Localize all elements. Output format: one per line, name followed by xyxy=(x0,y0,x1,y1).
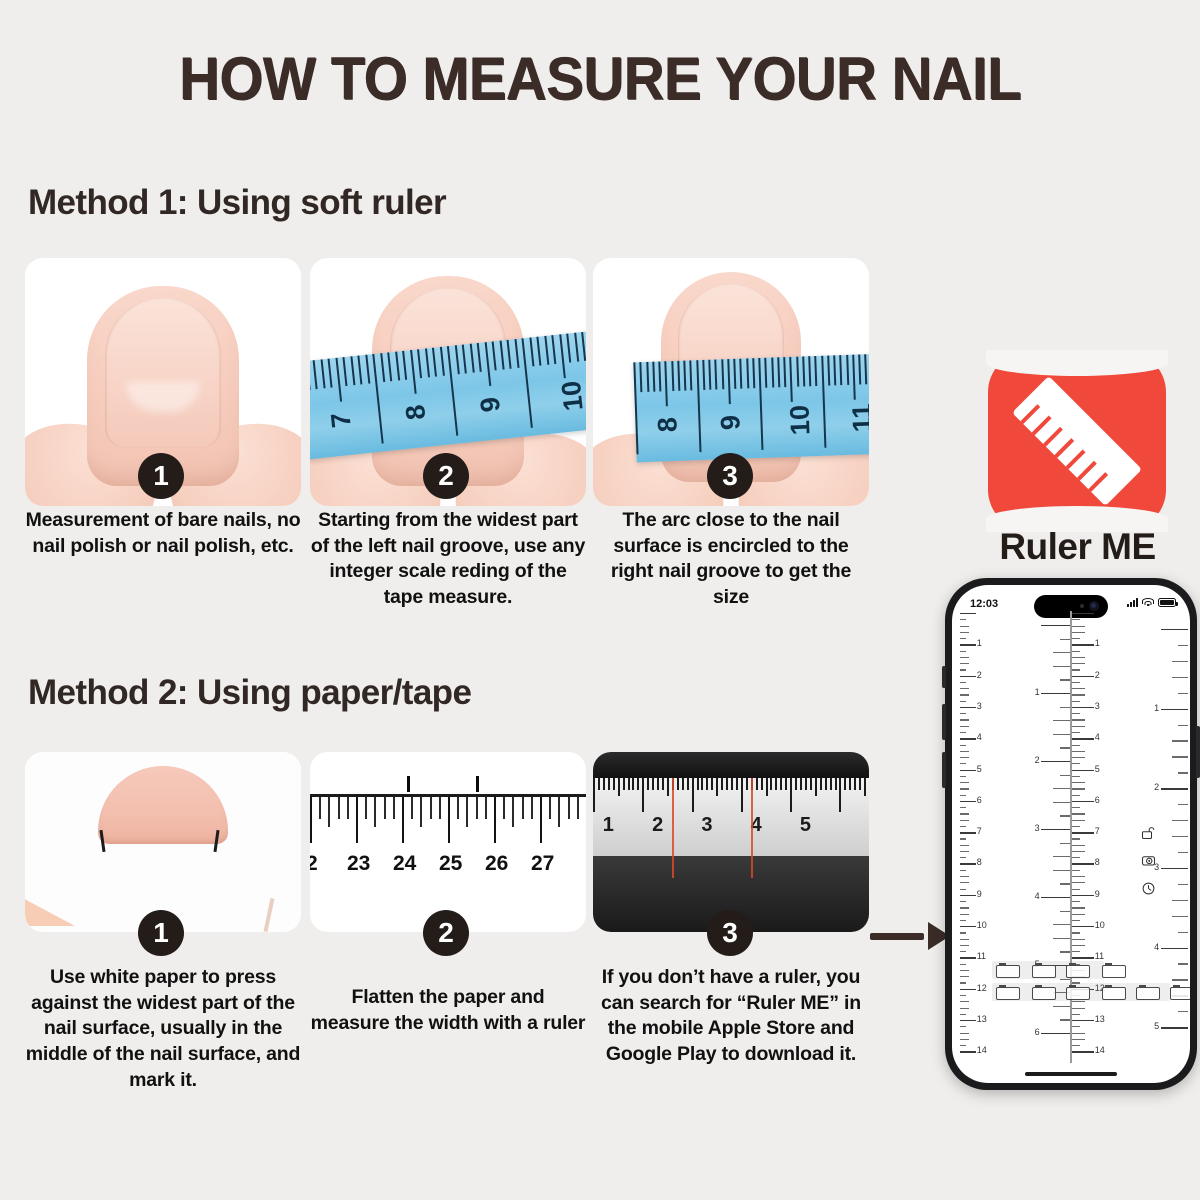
ruler-tick-label: 4 xyxy=(977,732,982,742)
tape-number: 9 xyxy=(715,414,747,430)
ruler-widget-buttons[interactable] xyxy=(966,963,1182,1007)
paper-ruler-number: 24 xyxy=(393,852,416,876)
step-badge-1: 1 xyxy=(138,453,184,499)
pen-mark xyxy=(476,776,479,792)
lock-icon[interactable] xyxy=(1141,825,1156,840)
method-1-step-2-caption: Starting from the widest part of the lef… xyxy=(310,508,586,611)
method-2-step-1-caption: Use white paper to press against the wid… xyxy=(25,965,301,1094)
ruler-tick-label: 9 xyxy=(1095,889,1100,899)
ruler-tick-label: 10 xyxy=(1095,920,1105,930)
widget-button[interactable] xyxy=(1066,965,1090,978)
clock-icon[interactable] xyxy=(1141,881,1156,896)
pen-mark xyxy=(407,776,410,792)
tape-number: 8 xyxy=(400,403,432,421)
ruler-tick-label: 9 xyxy=(977,889,982,899)
ruler-tick-label: 1 xyxy=(1154,703,1159,713)
status-bar-time: 12:03 xyxy=(970,598,998,610)
method-2-step-3-caption: If you don’t have a ruler, you can searc… xyxy=(593,965,869,1068)
paper-ruler-number: 25 xyxy=(439,852,462,876)
phone-volume-down-button[interactable] xyxy=(942,752,946,788)
paper-ruler-number: 26 xyxy=(485,852,508,876)
ruler-tick-label: 13 xyxy=(977,1014,987,1024)
metal-ruler-photo: 12345 xyxy=(593,752,869,932)
status-bar-icons xyxy=(1127,598,1176,607)
tape-number: 10 xyxy=(556,379,586,412)
ruler-tick-label: 14 xyxy=(1095,1045,1105,1055)
tape-number: 9 xyxy=(475,395,507,413)
ruler-tick-label: 13 xyxy=(1095,1014,1105,1024)
ruler-tick-label: 2 xyxy=(1154,782,1159,792)
widget-button[interactable] xyxy=(1102,965,1126,978)
metal-ruler-number: 3 xyxy=(701,814,712,837)
measurement-marker-line xyxy=(672,778,674,878)
phone-power-button[interactable] xyxy=(1196,726,1200,778)
widget-button[interactable] xyxy=(1066,987,1090,1000)
method-2-step-2-image-card: 22324252627 xyxy=(310,752,586,932)
method-2-step-1-image-card xyxy=(25,752,301,932)
paper-press-photo xyxy=(25,752,301,932)
method-2-step-3-image-card: 12345 xyxy=(593,752,869,932)
step-badge-4: 1 xyxy=(138,910,184,956)
ruler-tick-label: 11 xyxy=(1095,951,1104,961)
paper-ruler-number: 2 xyxy=(310,852,318,876)
ruler-tick-label: 8 xyxy=(1095,857,1100,867)
ruler-tick-label: 4 xyxy=(1154,942,1159,952)
ruler-tick-label: 6 xyxy=(1095,795,1100,805)
ruler-tick-label: 5 xyxy=(1154,1021,1159,1031)
paper-ruler-number: 27 xyxy=(531,852,554,876)
tape-number: 7 xyxy=(325,411,357,429)
ruler-tick-label: 5 xyxy=(977,764,982,774)
ruler-glyph-icon xyxy=(1012,376,1142,506)
step-badge-3: 3 xyxy=(707,453,753,499)
step-badge-6: 3 xyxy=(707,910,753,956)
method-2-heading: Method 2: Using paper/tape xyxy=(28,673,471,713)
ruler-tick-label: 2 xyxy=(1035,755,1040,765)
ruler-tick-label: 7 xyxy=(1095,826,1100,836)
step-badge-5: 2 xyxy=(423,910,469,956)
ruler-app-icon[interactable] xyxy=(988,352,1166,530)
page-title: HOW TO MEASURE YOUR NAIL xyxy=(36,44,1164,113)
phone-mockup: 12:03 1234567891011121314 123456 1234567… xyxy=(945,578,1197,1090)
ruler-tick-label: 4 xyxy=(1035,891,1040,901)
ruler-tick-label: 7 xyxy=(977,826,982,836)
ruler-tick-label: 1 xyxy=(1035,687,1040,697)
widget-row-1[interactable] xyxy=(966,963,1182,985)
wifi-icon xyxy=(1142,598,1154,607)
battery-icon xyxy=(1158,598,1176,607)
widget-button[interactable] xyxy=(1032,965,1056,978)
method-1-heading: Method 1: Using soft ruler xyxy=(28,183,446,223)
phone-screen[interactable]: 12:03 1234567891011121314 123456 1234567… xyxy=(952,585,1190,1083)
ruler-tick-label: 2 xyxy=(1095,670,1100,680)
arrow-to-app xyxy=(870,922,950,950)
cellular-signal-icon xyxy=(1127,598,1138,607)
ruler-tick-label: 14 xyxy=(977,1045,987,1055)
ruler-tick-label: 3 xyxy=(1035,823,1040,833)
method-1-step-1-caption: Measurement of bare nails, no nail polis… xyxy=(25,508,301,559)
widget-button[interactable] xyxy=(996,965,1020,978)
method-2-step-2-caption: Flatten the paper and measure the width … xyxy=(310,985,586,1036)
measurement-marker-line xyxy=(751,778,753,878)
app-name-label: Ruler ME xyxy=(940,526,1200,568)
camera-icon[interactable] xyxy=(1141,853,1156,868)
widget-button[interactable] xyxy=(996,987,1020,1000)
phone-mute-switch[interactable] xyxy=(942,666,946,688)
ruler-tick-label: 6 xyxy=(977,795,982,805)
ruler-tick-label: 6 xyxy=(1035,1027,1040,1037)
ruler-tick-label: 3 xyxy=(977,701,982,711)
phone-volume-up-button[interactable] xyxy=(942,704,946,740)
metal-ruler-number: 1 xyxy=(603,814,614,837)
tape-number: 10 xyxy=(784,405,816,436)
ruler-tick-label: 2 xyxy=(977,670,982,680)
widget-button[interactable] xyxy=(1170,987,1190,1000)
tape-number: 8 xyxy=(652,417,684,433)
step-badge-2: 2 xyxy=(423,453,469,499)
ruler-tick-label: 1 xyxy=(977,638,982,648)
ruler-tick-label: 11 xyxy=(977,951,986,961)
paper-ruler-number: 23 xyxy=(347,852,370,876)
method-1-step-3-caption: The arc close to the nail surface is enc… xyxy=(593,508,869,611)
ruler-tick-label: 10 xyxy=(977,920,987,930)
widget-button[interactable] xyxy=(1136,987,1160,1000)
home-indicator[interactable] xyxy=(1025,1072,1117,1076)
metal-ruler-number: 5 xyxy=(800,814,811,837)
metal-ruler-number: 2 xyxy=(652,814,663,837)
ruler-tick-label: 3 xyxy=(1095,701,1100,711)
ruler-tick-label: 4 xyxy=(1095,732,1100,742)
tool-icon-group[interactable] xyxy=(1141,825,1156,896)
ruler-tick-label: 5 xyxy=(1095,764,1100,774)
widget-row-2[interactable] xyxy=(966,985,1182,1007)
ruler-tick-label: 8 xyxy=(977,857,982,867)
widget-button[interactable] xyxy=(1032,987,1056,1000)
ruler-tick-label: 1 xyxy=(1095,638,1100,648)
paper-ruler-photo: 22324252627 xyxy=(310,752,586,932)
widget-button[interactable] xyxy=(1102,987,1126,1000)
tape-number: 11 xyxy=(846,403,869,433)
